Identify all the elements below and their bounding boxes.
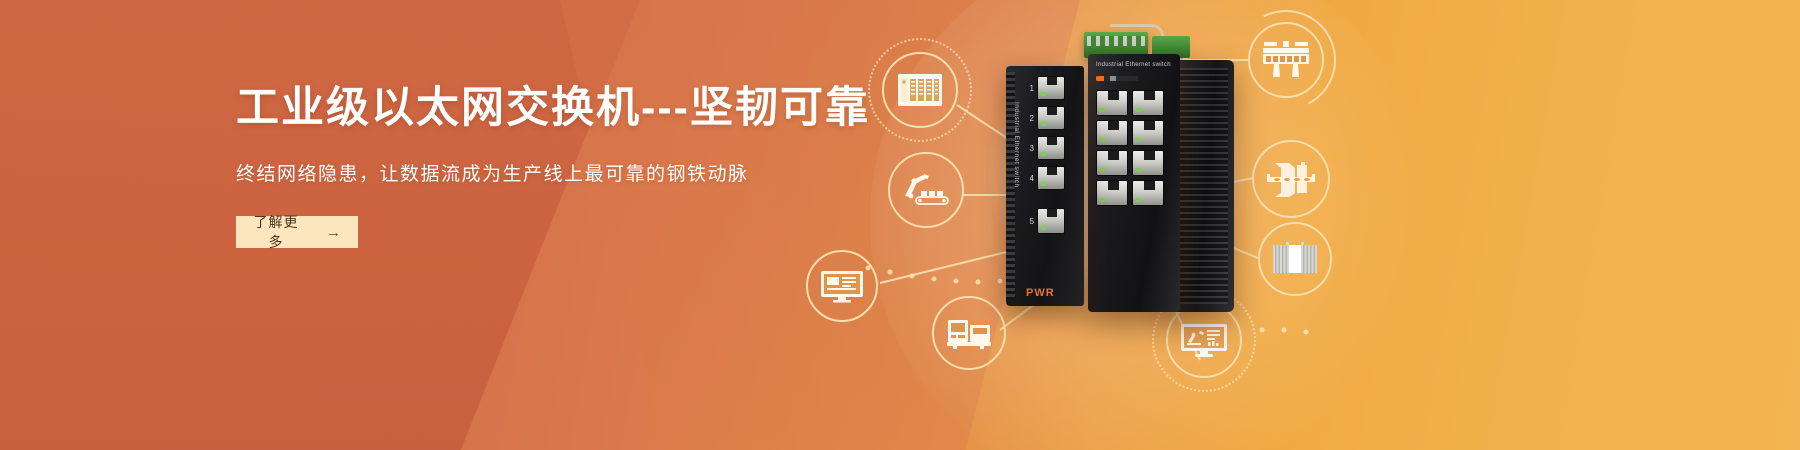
- port-row[interactable]: 1: [1026, 76, 1082, 100]
- device-left-port-column: 1 2 3 4 5: [1026, 76, 1082, 240]
- icon-node-din-rail[interactable]: [1252, 140, 1330, 218]
- workstation-icon: [820, 269, 864, 303]
- port-number: 1: [1026, 84, 1034, 93]
- robot-conveyor-icon: [901, 172, 951, 208]
- icon-node-robot-conveyor[interactable]: [888, 152, 964, 228]
- device-heatsink: [1172, 60, 1234, 312]
- port-number: 3: [1026, 144, 1034, 153]
- page-subtitle: 终结网络隐患，让数据流成为生产线上最可靠的钢铁动脉: [236, 159, 876, 186]
- port-row[interactable]: 5: [1026, 208, 1082, 234]
- rj45-port[interactable]: [1096, 90, 1128, 116]
- page-title: 工业级以太网交换机---坚韧可靠: [236, 84, 876, 133]
- hero-copy: 工业级以太网交换机---坚韧可靠 终结网络隐患，让数据流成为生产线上最可靠的钢铁…: [236, 84, 876, 248]
- power-supply-icon: [1272, 242, 1318, 276]
- port-row[interactable]: 2: [1026, 106, 1082, 130]
- rj45-port[interactable]: [1037, 76, 1065, 100]
- heatsink-fins: [1178, 68, 1228, 304]
- port-row[interactable]: 3: [1026, 136, 1082, 160]
- hero-banner: Industrial Ethernet switch Industrial Et…: [0, 0, 1800, 450]
- device-module-left: Industrial Ethernet switch 1 2 3 4: [1006, 66, 1084, 306]
- connector-screws: [1087, 36, 1145, 46]
- icon-node-workstation[interactable]: [806, 250, 878, 322]
- port-number: 4: [1026, 174, 1034, 183]
- rj45-port[interactable]: [1096, 150, 1128, 176]
- rj45-port[interactable]: [1132, 180, 1164, 206]
- rj45-port[interactable]: [1037, 208, 1065, 234]
- rj45-port[interactable]: [1132, 120, 1164, 146]
- rj45-port[interactable]: [1096, 180, 1128, 206]
- power-indicator-label: PWR: [1026, 287, 1055, 299]
- port-row[interactable]: 4: [1026, 166, 1082, 190]
- port-number: 2: [1026, 114, 1034, 123]
- rj45-port[interactable]: [1037, 166, 1065, 190]
- icon-dotring-plc: [868, 38, 972, 142]
- arrow-right-icon: →: [326, 225, 342, 240]
- rj45-port[interactable]: [1096, 120, 1128, 146]
- device-top-label: Industrial Ethernet switch: [1096, 62, 1171, 68]
- icon-node-power-supply[interactable]: [1258, 222, 1332, 296]
- device-module-right: Industrial Ethernet switch: [1088, 54, 1180, 312]
- device-right-port-grid: [1096, 90, 1164, 206]
- rj45-port[interactable]: [1132, 90, 1164, 116]
- port-number: 5: [1026, 217, 1034, 226]
- device-side-label: Industrial Ethernet switch: [1013, 102, 1020, 188]
- din-rail-icon: [1265, 159, 1317, 199]
- learn-more-button[interactable]: 了解更多 →: [236, 216, 358, 248]
- rj45-port[interactable]: [1037, 136, 1065, 160]
- rj45-port[interactable]: [1037, 106, 1065, 130]
- industrial-ethernet-switch: Industrial Ethernet switch Industrial Et…: [960, 18, 1250, 338]
- rj45-port[interactable]: [1132, 150, 1164, 176]
- device-led-strip: [1096, 76, 1138, 81]
- learn-more-label: 了解更多: [252, 212, 300, 252]
